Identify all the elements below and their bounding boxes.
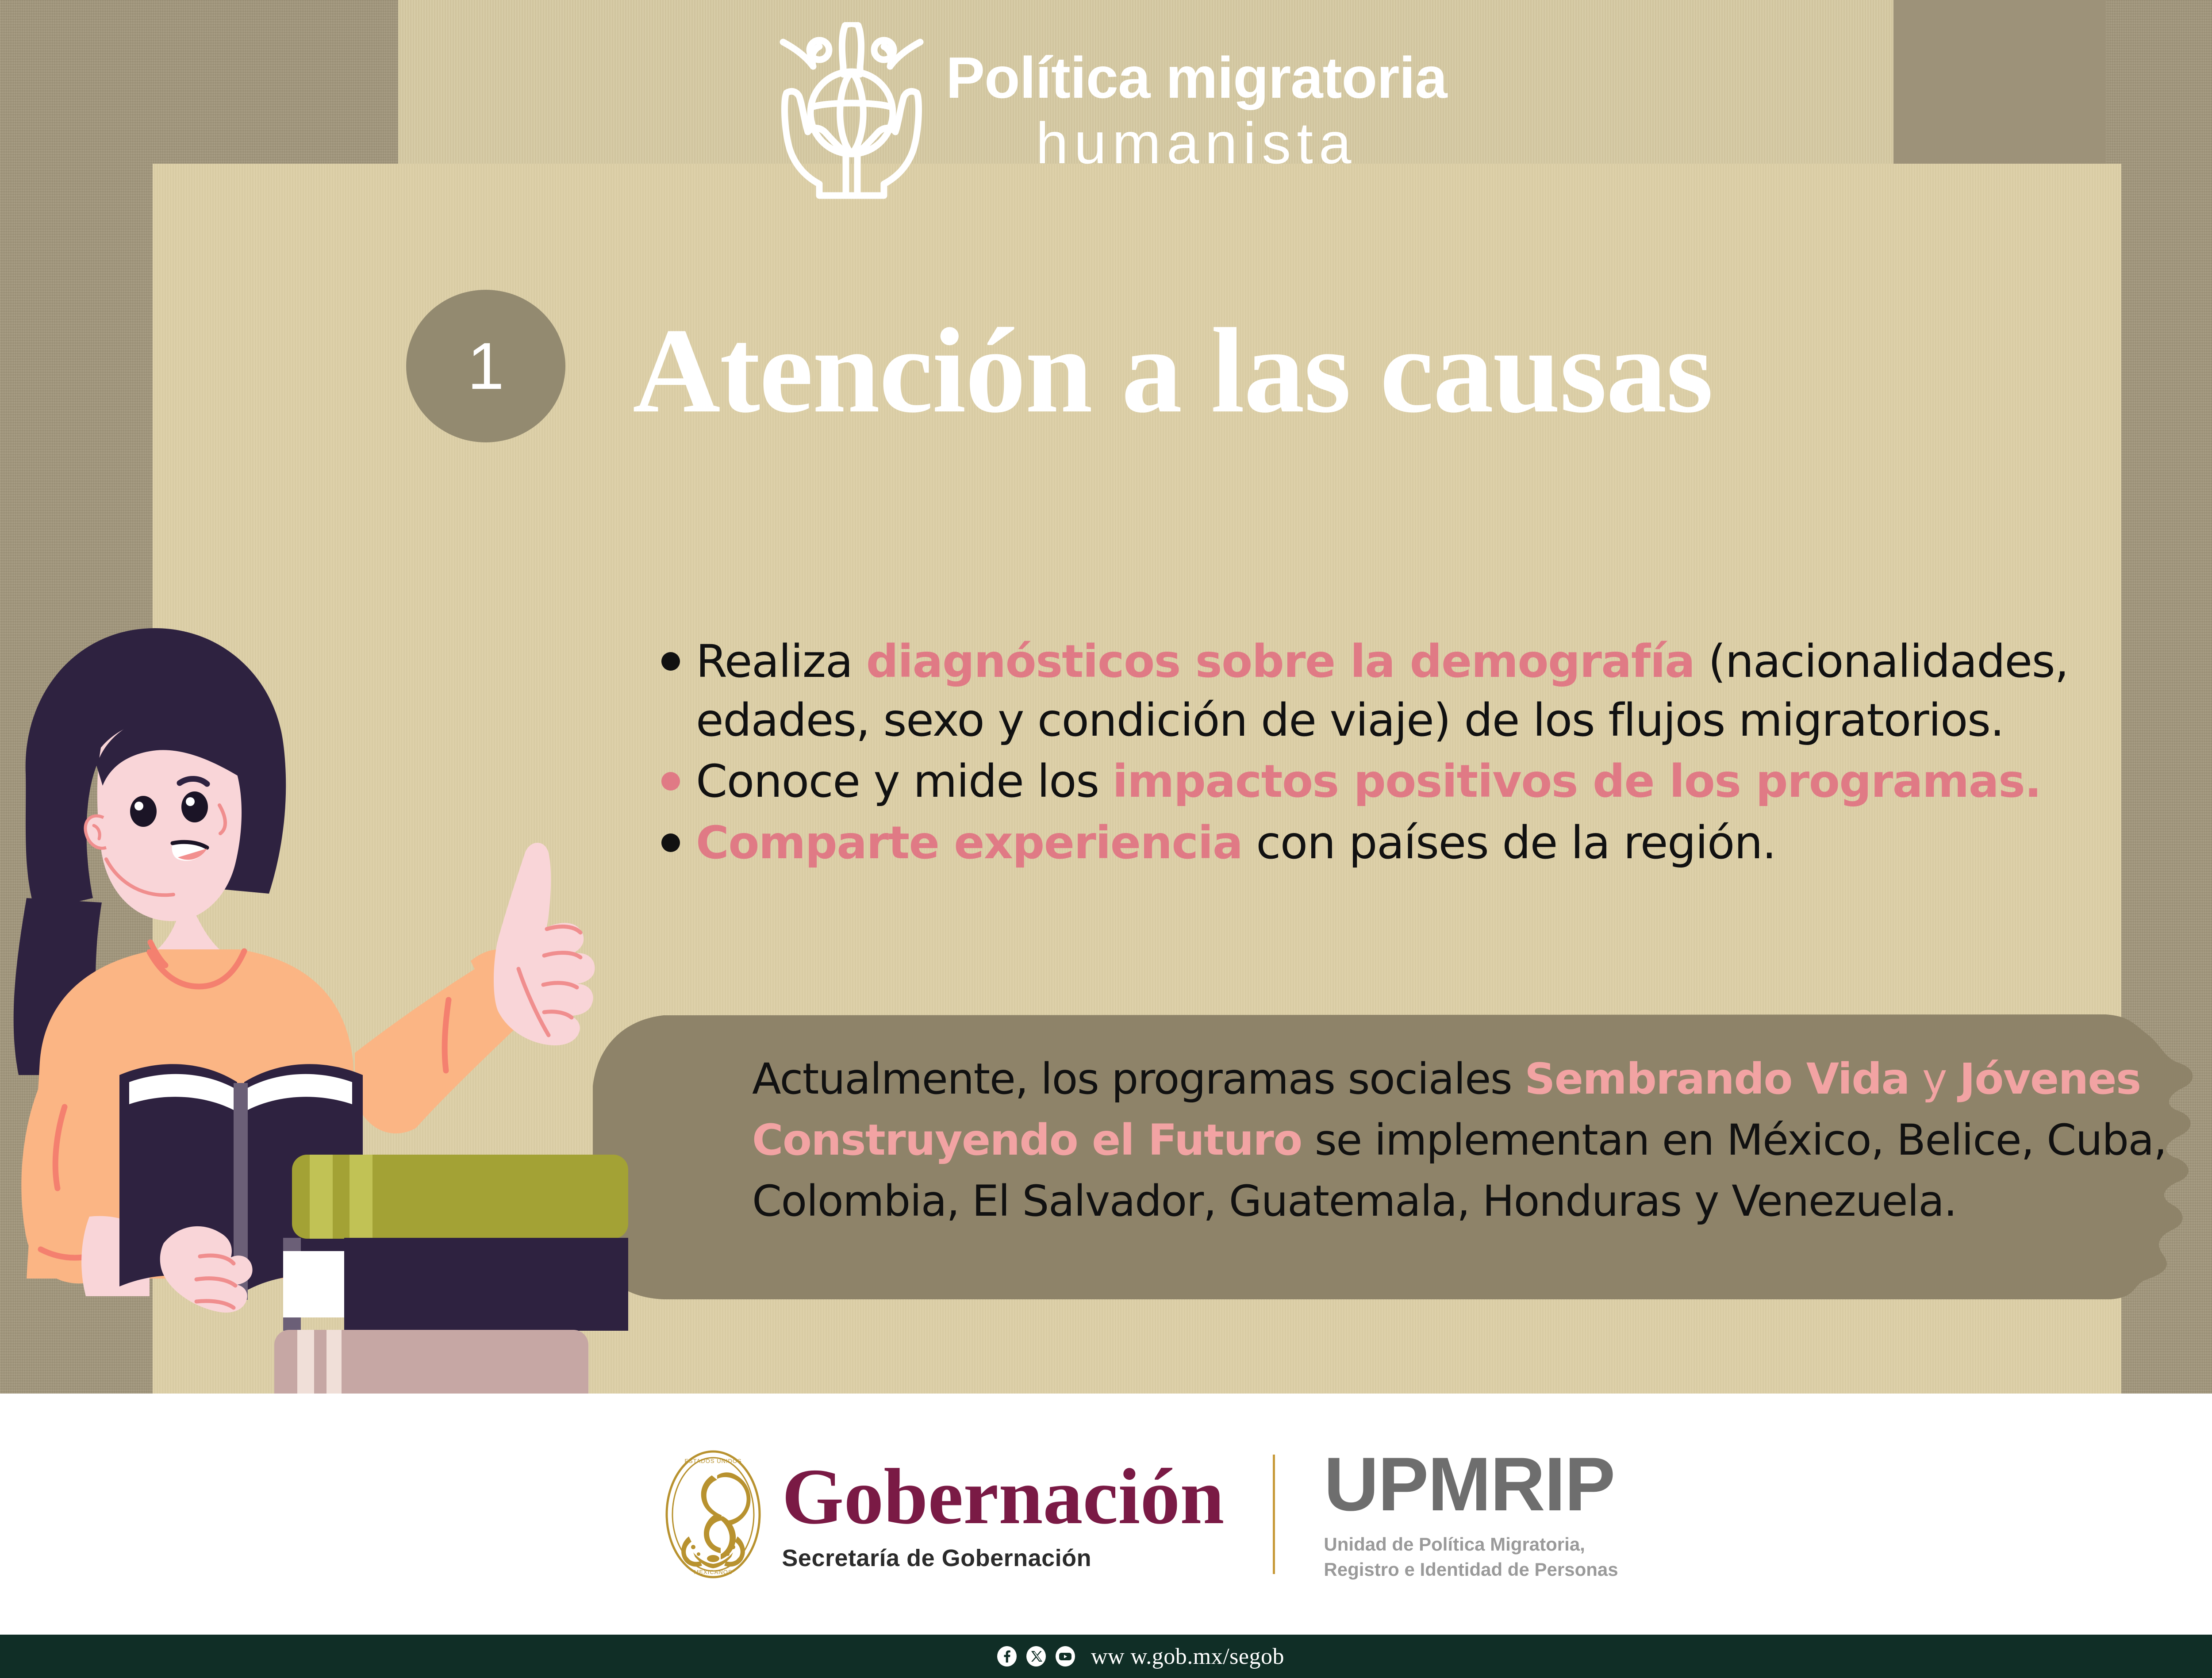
bullet-marker-icon <box>661 833 680 852</box>
book-olive <box>292 1155 628 1239</box>
bullet-seg: Realiza <box>696 635 866 688</box>
bullet-text: Comparte experiencia con países de la re… <box>696 814 1776 873</box>
callout-seg-highlight-light: y <box>1909 1054 1959 1104</box>
youtube-icon[interactable] <box>1055 1646 1076 1667</box>
step-number: 1 <box>467 328 504 404</box>
eye-left <box>130 796 157 827</box>
bottom-bar: ww w.gob.mx/segob <box>0 1635 2212 1678</box>
bullet-seg: . <box>2024 755 2041 808</box>
callout-box: Actualmente, los programas sociales Semb… <box>571 1002 2212 1312</box>
bullet-text: Realiza diagnósticos sobre la demografía… <box>696 633 2212 750</box>
callout-seg: Actualmente, los programas sociales <box>752 1054 1525 1104</box>
infographic-stage: Política migratoria humanista 1 Atención… <box>0 0 2212 1678</box>
bullet-seg: Conoce y mide los <box>696 755 1113 808</box>
facebook-icon[interactable] <box>996 1646 1018 1667</box>
gobernacion-title: Gobernación <box>782 1457 1224 1536</box>
bullet-text: Conoce y mide los impactos positivos de … <box>696 753 2041 811</box>
page-title: Atención a las causas <box>633 301 1713 441</box>
header-brand: Política migratoria humanista <box>779 22 1447 199</box>
gobernacion-logo: ESTADOS UNIDOS MEXICANOS Gobernación Sec… <box>662 1448 1224 1581</box>
bullet-seg-highlight: impactos positivos de los programas <box>1113 755 2025 808</box>
bullet-marker-icon <box>661 652 680 671</box>
eye-right <box>181 791 208 822</box>
background-right-strip <box>1893 0 2106 164</box>
bullet-marker-icon <box>661 772 680 791</box>
book-dark <box>344 1238 628 1331</box>
mexican-coat-of-arms-icon: ESTADOS UNIDOS MEXICANOS <box>662 1448 764 1581</box>
footer-url[interactable]: ww w.gob.mx/segob <box>1091 1643 1284 1670</box>
gobernacion-subtitle: Secretaría de Gobernación <box>782 1544 1224 1572</box>
hand-pointing <box>494 843 595 1045</box>
list-item: Conoce y mide los impactos positivos de … <box>661 753 2212 811</box>
upmrip-title: UPMRIP <box>1324 1446 1618 1522</box>
hands-globe-people-icon <box>779 22 925 199</box>
bullet-seg-highlight: Comparte experiencia <box>696 817 1242 869</box>
footer: ESTADOS UNIDOS MEXICANOS Gobernación Sec… <box>0 1394 2212 1635</box>
svg-text:MEXICANOS: MEXICANOS <box>694 1569 733 1575</box>
woman-reading-illustration <box>0 500 664 1394</box>
book-mauve <box>274 1330 588 1394</box>
callout-text: Actualmente, los programas sociales Semb… <box>752 1048 2199 1232</box>
callout-seg-highlight: Sembrando Vida <box>1525 1054 1909 1104</box>
footer-divider <box>1273 1455 1275 1574</box>
upmrip-subtitle: Unidad de Política Migratoria, Registro … <box>1324 1532 1618 1582</box>
x-twitter-icon[interactable] <box>1025 1646 1047 1667</box>
svg-text:ESTADOS UNIDOS: ESTADOS UNIDOS <box>685 1458 742 1464</box>
upmrip-logo: UPMRIP Unidad de Política Migratoria, Re… <box>1324 1446 1618 1582</box>
upmrip-subtitle-line2: Registro e Identidad de Personas <box>1324 1559 1618 1580</box>
brand-line-2: humanista <box>946 114 1447 173</box>
brand-line-1: Política migratoria <box>946 49 1447 107</box>
bullet-seg: con países de la región. <box>1242 817 1776 869</box>
list-item: Comparte experiencia con países de la re… <box>661 814 2212 873</box>
upmrip-subtitle-line1: Unidad de Política Migratoria, <box>1324 1534 1585 1555</box>
step-number-badge: 1 <box>406 290 565 442</box>
bullet-list: Realiza diagnósticos sobre la demografía… <box>661 633 2212 875</box>
list-item: Realiza diagnósticos sobre la demografía… <box>661 633 2212 750</box>
bullet-seg-highlight: diagnósticos sobre la demografía <box>866 635 1695 688</box>
